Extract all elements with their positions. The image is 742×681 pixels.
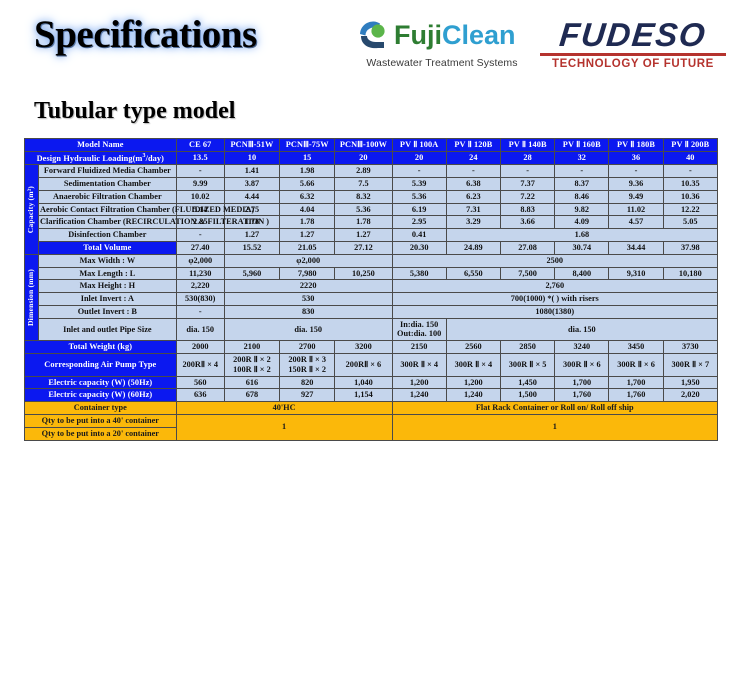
header-model-9: PV Ⅱ 200B xyxy=(663,139,717,152)
value-electric-50hz-7: 1,700 xyxy=(555,376,609,389)
value-dimension-1-0: 11,230 xyxy=(176,267,224,280)
value-air-pump-3: 200RⅡ × 6 xyxy=(335,354,392,377)
value-capacity-1-8: 9.36 xyxy=(609,178,663,191)
value-electric-60hz-2: 927 xyxy=(280,389,335,402)
value-capacity-4-9: 5.05 xyxy=(663,216,717,229)
header-model-1: PCNⅢ-51W xyxy=(224,139,279,152)
value-capacity-1-0: 9.99 xyxy=(176,178,224,191)
header-model-7: PV Ⅱ 160B xyxy=(555,139,609,152)
row-container-type: Container type40'HCFlat Rack Container o… xyxy=(25,402,718,415)
label-capacity-4: Clarification Chamber (RECIRCULATION & F… xyxy=(39,216,177,229)
row-capacity-1: Sedimentation Chamber9.993.875.667.55.39… xyxy=(25,178,718,191)
value-container-type-1: Flat Rack Container or Roll on/ Roll off… xyxy=(392,402,717,415)
value-capacity-1-5: 6.38 xyxy=(446,178,500,191)
value-air-pump-8: 300R Ⅱ × 6 xyxy=(609,354,663,377)
value-design-hydraulic-loading-6: 28 xyxy=(500,151,554,165)
label-air-pump-type: Corresponding Air Pump Type xyxy=(25,354,177,377)
value-capacity-1-9: 10.35 xyxy=(663,178,717,191)
label-dimension-5: Inlet and outlet Pipe Size xyxy=(39,318,177,341)
value-dimension-5-2: In:dia. 150Out:dia. 100 xyxy=(392,318,446,341)
row-dimension-5: Inlet and outlet Pipe Sizedia. 150dia. 1… xyxy=(25,318,718,341)
value-total-volume-7: 30.74 xyxy=(555,242,609,255)
value-dimension-2-1: 2220 xyxy=(224,280,392,293)
value-design-hydraulic-loading-5: 24 xyxy=(446,151,500,165)
fudeso-wordmark: FUDESO xyxy=(538,18,727,51)
row-capacity-4: Clarification Chamber (RECIRCULATION & F… xyxy=(25,216,718,229)
value-dimension-1-4: 5,380 xyxy=(392,267,446,280)
value-total-volume-5: 24.89 xyxy=(446,242,500,255)
value-capacity-1-4: 5.39 xyxy=(392,178,446,191)
value-electric-50hz-4: 1,200 xyxy=(392,376,446,389)
page-title: Specifications xyxy=(34,12,257,57)
value-electric-60hz-3: 1,154 xyxy=(335,389,392,402)
fudeso-divider xyxy=(540,53,726,56)
value-dimension-0-0: φ2,000 xyxy=(176,254,224,267)
value-dimension-1-7: 8,400 xyxy=(555,267,609,280)
value-disinfection-1: 1.27 xyxy=(224,229,279,242)
value-capacity-1-2: 5.66 xyxy=(280,178,335,191)
value-air-pump-7: 300R Ⅱ × 6 xyxy=(555,354,609,377)
value-capacity-3-5: 7.31 xyxy=(446,203,500,216)
value-total-volume-1: 15.52 xyxy=(224,242,279,255)
value-total-volume-2: 21.05 xyxy=(280,242,335,255)
row-qty-40-container: Qty to be put into a 40' container11 xyxy=(25,414,718,427)
value-total-volume-3: 27.12 xyxy=(335,242,392,255)
value-dimension-0-2: 2500 xyxy=(392,254,717,267)
value-capacity-1-1: 3.87 xyxy=(224,178,279,191)
value-capacity-0-0: - xyxy=(176,165,224,178)
label-capacity-2: Anaerobic Filtration Chamber xyxy=(39,190,177,203)
value-total-weight-2: 2700 xyxy=(280,341,335,354)
value-capacity-2-7: 8.46 xyxy=(555,190,609,203)
value-capacity-3-3: 5.36 xyxy=(335,203,392,216)
value-disinfection-3: 1.27 xyxy=(335,229,392,242)
fujiclean-word-clean: Clean xyxy=(442,20,516,50)
header-model-6: PV Ⅱ 140B xyxy=(500,139,554,152)
row-capacity-0: Capacity (m³)Forward Fluidized Media Cha… xyxy=(25,165,718,178)
page-header: Specifications FujiClean Wastewater Trea… xyxy=(0,0,742,92)
value-capacity-4-5: 3.29 xyxy=(446,216,500,229)
value-design-hydraulic-loading-3: 20 xyxy=(335,151,392,165)
specifications-table: Model NameCE 67PCNⅢ-51WPCNⅢ-75WPCNⅢ-100W… xyxy=(24,138,718,441)
row-dimension-4: Outlet Invert : B-8301080(1380) xyxy=(25,305,718,318)
value-air-pump-9: 300R Ⅱ × 7 xyxy=(663,354,717,377)
value-electric-50hz-0: 560 xyxy=(176,376,224,389)
label-electric-50hz: Electric capacity (W) (50Hz) xyxy=(25,376,177,389)
value-electric-50hz-1: 616 xyxy=(224,376,279,389)
value-dimension-4-2: 1080(1380) xyxy=(392,305,717,318)
value-design-hydraulic-loading-4: 20 xyxy=(392,151,446,165)
value-electric-60hz-8: 1,760 xyxy=(609,389,663,402)
header-model-3: PCNⅢ-100W xyxy=(335,139,392,152)
label-dimension-2: Max Height : H xyxy=(39,280,177,293)
value-dimension-4-0: - xyxy=(176,305,224,318)
value-dimension-1-5: 6,550 xyxy=(446,267,500,280)
value-capacity-4-7: 4.09 xyxy=(555,216,609,229)
value-capacity-4-8: 4.57 xyxy=(609,216,663,229)
header-model-5: PV Ⅱ 120B xyxy=(446,139,500,152)
value-electric-50hz-6: 1,450 xyxy=(500,376,554,389)
value-capacity-3-8: 11.02 xyxy=(609,203,663,216)
row-electric-50hz: Electric capacity (W) (50Hz)5606168201,0… xyxy=(25,376,718,389)
label-total-volume: Total Volume xyxy=(39,242,177,255)
specifications-page: Specifications FujiClean Wastewater Trea… xyxy=(0,0,742,681)
value-total-weight-9: 3730 xyxy=(663,341,717,354)
value-total-weight-6: 2850 xyxy=(500,341,554,354)
value-electric-50hz-9: 1,950 xyxy=(663,376,717,389)
row-capacity-3: Aerobic Contact Filtration Chamber (FLUI… xyxy=(25,203,718,216)
group-label-capacity: Capacity (m³) xyxy=(25,165,39,254)
row-dimension-3: Inlet Invert : A530(830)530700(1000) *( … xyxy=(25,293,718,306)
value-air-pump-4: 300R Ⅱ × 4 xyxy=(392,354,446,377)
value-electric-60hz-6: 1,500 xyxy=(500,389,554,402)
row-electric-60hz: Electric capacity (W) (60Hz)6366789271,1… xyxy=(25,389,718,402)
fudeso-logo: FUDESO TECHNOLOGY OF FUTURE xyxy=(540,18,726,70)
group-label-dimension: Dimension (mm) xyxy=(25,254,39,340)
value-capacity-3-6: 8.83 xyxy=(500,203,554,216)
row-dimension-2: Max Height : H2,22022202,760 xyxy=(25,280,718,293)
value-capacity-3-7: 9.82 xyxy=(555,203,609,216)
value-capacity-0-2: 1.98 xyxy=(280,165,335,178)
header-model-2: PCNⅢ-75W xyxy=(280,139,335,152)
value-capacity-3-9: 12.22 xyxy=(663,203,717,216)
row-dimension-1: Max Length : L11,2305,9607,98010,2505,38… xyxy=(25,267,718,280)
value-qty-0: 1 xyxy=(176,414,392,440)
table-header-row-model-name: Model NameCE 67PCNⅢ-51WPCNⅢ-75WPCNⅢ-100W… xyxy=(25,139,718,152)
row-disinfection-chamber: Disinfection Chamber-1.271.271.270.411.6… xyxy=(25,229,718,242)
value-capacity-4-3: 1.78 xyxy=(335,216,392,229)
value-total-weight-3: 3200 xyxy=(335,341,392,354)
value-capacity-4-2: 1.78 xyxy=(280,216,335,229)
value-container-type-0: 40'HC xyxy=(176,402,392,415)
value-total-weight-5: 2560 xyxy=(446,341,500,354)
value-disinfection-0: - xyxy=(176,229,224,242)
value-dimension-1-6: 7,500 xyxy=(500,267,554,280)
label-dimension-3: Inlet Invert : A xyxy=(39,293,177,306)
value-capacity-0-9: - xyxy=(663,165,717,178)
value-dimension-1-8: 9,310 xyxy=(609,267,663,280)
header-model-name: Model Name xyxy=(25,139,177,152)
value-total-weight-0: 2000 xyxy=(176,341,224,354)
value-capacity-1-6: 7.37 xyxy=(500,178,554,191)
value-total-volume-8: 34.44 xyxy=(609,242,663,255)
fujiclean-tagline: Wastewater Treatment Systems xyxy=(356,57,528,69)
label-design-hydraulic-loading: Design Hydraulic Loading(m3/day) xyxy=(25,151,177,165)
label-qty-40-container: Qty to be put into a 40' container xyxy=(25,414,177,427)
value-capacity-2-2: 6.32 xyxy=(280,190,335,203)
value-capacity-2-9: 10.36 xyxy=(663,190,717,203)
value-disinfection-5: 1.68 xyxy=(446,229,717,242)
fujiclean-mark-icon xyxy=(356,18,390,52)
value-air-pump-0: 200RⅡ × 4 xyxy=(176,354,224,377)
value-electric-60hz-7: 1,760 xyxy=(555,389,609,402)
value-capacity-2-6: 7.22 xyxy=(500,190,554,203)
value-capacity-1-7: 8.37 xyxy=(555,178,609,191)
value-dimension-4-1: 830 xyxy=(224,305,392,318)
value-capacity-0-8: - xyxy=(609,165,663,178)
row-total-weight: Total Weight (kg)20002100270032002150256… xyxy=(25,341,718,354)
value-disinfection-4: 0.41 xyxy=(392,229,446,242)
label-disinfection-chamber: Disinfection Chamber xyxy=(39,229,177,242)
value-total-volume-4: 20.30 xyxy=(392,242,446,255)
value-disinfection-2: 1.27 xyxy=(280,229,335,242)
value-electric-60hz-0: 636 xyxy=(176,389,224,402)
value-design-hydraulic-loading-7: 32 xyxy=(555,151,609,165)
value-air-pump-2: 200R Ⅱ × 3150R Ⅱ × 2 xyxy=(280,354,335,377)
value-capacity-0-4: - xyxy=(392,165,446,178)
value-dimension-5-0: dia. 150 xyxy=(176,318,224,341)
value-dimension-2-0: 2,220 xyxy=(176,280,224,293)
value-design-hydraulic-loading-9: 40 xyxy=(663,151,717,165)
value-electric-50hz-2: 820 xyxy=(280,376,335,389)
value-total-weight-4: 2150 xyxy=(392,341,446,354)
label-dimension-4: Outlet Invert : B xyxy=(39,305,177,318)
value-capacity-2-5: 6.23 xyxy=(446,190,500,203)
value-electric-60hz-4: 1,240 xyxy=(392,389,446,402)
value-electric-60hz-1: 678 xyxy=(224,389,279,402)
value-capacity-2-3: 8.32 xyxy=(335,190,392,203)
value-dimension-1-2: 7,980 xyxy=(280,267,335,280)
value-capacity-3-2: 4.04 xyxy=(280,203,335,216)
value-dimension-3-2: 700(1000) *( ) with risers xyxy=(392,293,717,306)
value-qty-1: 1 xyxy=(392,414,717,440)
value-capacity-1-3: 7.5 xyxy=(335,178,392,191)
label-capacity-0: Forward Fluidized Media Chamber xyxy=(39,165,177,178)
row-total-volume: Total Volume27.4015.5221.0527.1220.3024.… xyxy=(25,242,718,255)
value-dimension-1-1: 5,960 xyxy=(224,267,279,280)
row-capacity-2: Anaerobic Filtration Chamber10.024.446.3… xyxy=(25,190,718,203)
value-dimension-0-1: φ2,000 xyxy=(224,254,392,267)
label-capacity-1: Sedimentation Chamber xyxy=(39,178,177,191)
value-electric-60hz-9: 2,020 xyxy=(663,389,717,402)
value-capacity-0-1: 1.41 xyxy=(224,165,279,178)
fujiclean-logo: FujiClean Wastewater Treatment Systems xyxy=(356,14,528,69)
row-dimension-0: Dimension (mm)Max Width : Wφ2,000φ2,0002… xyxy=(25,254,718,267)
value-dimension-5-1: dia. 150 xyxy=(224,318,392,341)
value-electric-60hz-5: 1,240 xyxy=(446,389,500,402)
value-capacity-2-4: 5.36 xyxy=(392,190,446,203)
value-capacity-2-8: 9.49 xyxy=(609,190,663,203)
section-subtitle: Tubular type model xyxy=(34,98,235,125)
value-dimension-1-9: 10,180 xyxy=(663,267,717,280)
label-dimension-0: Max Width : W xyxy=(39,254,177,267)
value-total-volume-6: 27.08 xyxy=(500,242,554,255)
value-capacity-3-4: 6.19 xyxy=(392,203,446,216)
value-electric-50hz-3: 1,040 xyxy=(335,376,392,389)
value-total-weight-1: 2100 xyxy=(224,341,279,354)
fudeso-tagline: TECHNOLOGY OF FUTURE xyxy=(540,58,726,70)
value-design-hydraulic-loading-8: 36 xyxy=(609,151,663,165)
specifications-table-wrap: Model NameCE 67PCNⅢ-51WPCNⅢ-75WPCNⅢ-100W… xyxy=(24,138,718,441)
value-dimension-1-3: 10,250 xyxy=(335,267,392,280)
value-air-pump-1: 200R Ⅱ × 2100R Ⅱ × 2 xyxy=(224,354,279,377)
value-capacity-0-7: - xyxy=(555,165,609,178)
label-qty-20-container: Qty to be put into a 20' container xyxy=(25,427,177,440)
value-dimension-3-0: 530(830) xyxy=(176,293,224,306)
label-dimension-1: Max Length : L xyxy=(39,267,177,280)
label-container-type: Container type xyxy=(25,402,177,415)
label-electric-60hz: Electric capacity (W) (60Hz) xyxy=(25,389,177,402)
value-electric-50hz-8: 1,700 xyxy=(609,376,663,389)
value-air-pump-5: 300R Ⅱ × 4 xyxy=(446,354,500,377)
fujiclean-word-fuji: Fuji xyxy=(394,20,442,50)
value-design-hydraulic-loading-2: 15 xyxy=(280,151,335,165)
value-total-weight-7: 3240 xyxy=(555,341,609,354)
value-total-volume-0: 27.40 xyxy=(176,242,224,255)
label-total-weight: Total Weight (kg) xyxy=(25,341,177,354)
value-total-volume-9: 37.98 xyxy=(663,242,717,255)
value-capacity-4-6: 3.66 xyxy=(500,216,554,229)
header-model-4: PV Ⅱ 100A xyxy=(392,139,446,152)
value-total-weight-8: 3450 xyxy=(609,341,663,354)
value-air-pump-6: 300R Ⅱ × 5 xyxy=(500,354,554,377)
row-design-hydraulic-loading: Design Hydraulic Loading(m3/day)13.51015… xyxy=(25,151,718,165)
row-air-pump-type: Corresponding Air Pump Type200RⅡ × 4200R… xyxy=(25,354,718,377)
header-model-8: PV Ⅱ 180B xyxy=(609,139,663,152)
header-model-0: CE 67 xyxy=(176,139,224,152)
value-electric-50hz-5: 1,200 xyxy=(446,376,500,389)
value-dimension-3-1: 530 xyxy=(224,293,392,306)
value-capacity-0-3: 2.89 xyxy=(335,165,392,178)
value-design-hydraulic-loading-1: 10 xyxy=(224,151,279,165)
fujiclean-wordmark: FujiClean xyxy=(394,22,516,49)
label-capacity-3: Aerobic Contact Filtration Chamber (FLUI… xyxy=(39,203,177,216)
value-dimension-2-2: 2,760 xyxy=(392,280,717,293)
specifications-table-body: Model NameCE 67PCNⅢ-51WPCNⅢ-75WPCNⅢ-100W… xyxy=(25,139,718,441)
value-dimension-5-3: dia. 150 xyxy=(446,318,717,341)
value-design-hydraulic-loading-0: 13.5 xyxy=(176,151,224,165)
value-capacity-4-4: 2.95 xyxy=(392,216,446,229)
value-capacity-2-1: 4.44 xyxy=(224,190,279,203)
value-capacity-0-5: - xyxy=(446,165,500,178)
value-capacity-2-0: 10.02 xyxy=(176,190,224,203)
value-capacity-0-6: - xyxy=(500,165,554,178)
